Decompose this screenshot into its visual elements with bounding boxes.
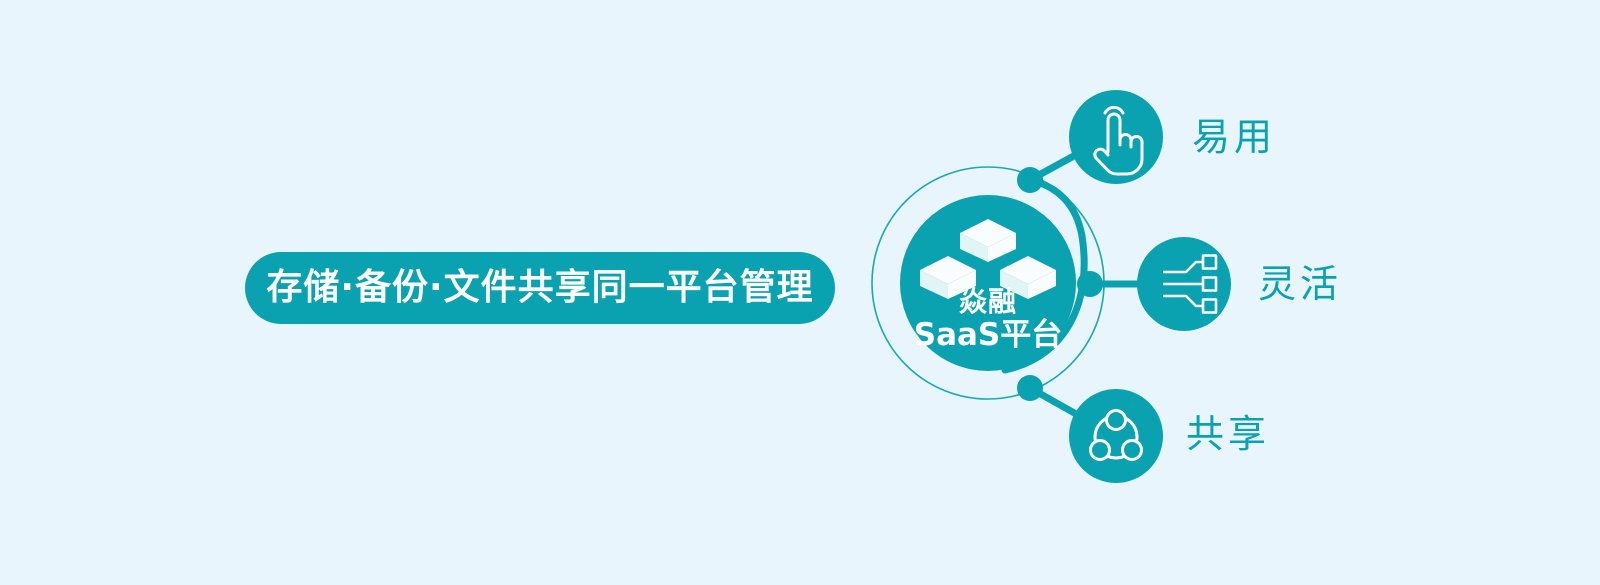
- hub-and-spoke-diagram: [0, 0, 1600, 585]
- node-ease-of-use: [1017, 167, 1043, 193]
- branch-ease-of-use[interactable]: [1069, 90, 1163, 184]
- branch-label-flexibility: 灵活: [1258, 265, 1342, 303]
- branch-sharing[interactable]: [1069, 389, 1163, 483]
- branch-circle-ease-of-use: [1069, 90, 1163, 184]
- branch-circle-sharing: [1069, 389, 1163, 483]
- node-sharing: [1017, 375, 1043, 401]
- branch-label-sharing: 共享: [1186, 415, 1270, 453]
- branch-label-ease-of-use: 易用: [1192, 118, 1276, 156]
- branch-flexibility[interactable]: [1137, 237, 1231, 331]
- infographic-canvas: 存储·备份·文件共享同一平台管理: [0, 0, 1600, 585]
- node-flexibility: [1077, 271, 1103, 297]
